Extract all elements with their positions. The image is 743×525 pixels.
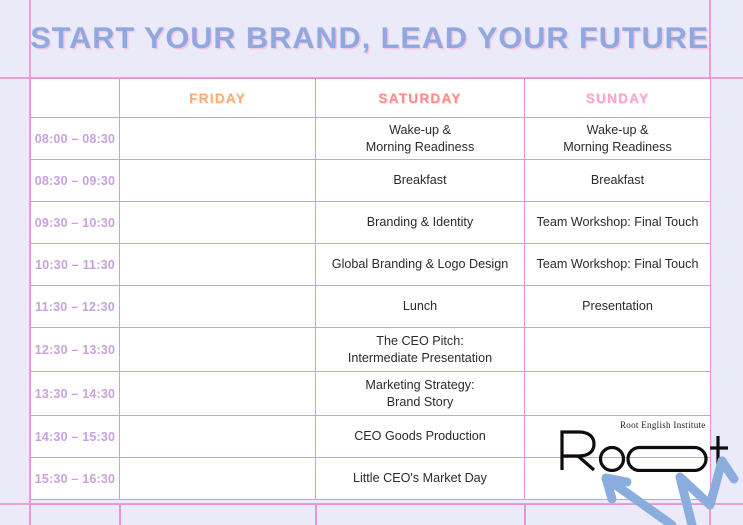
- cell-text-line1: Wake-up &: [389, 123, 451, 137]
- cell-saturday: Marketing Strategy: Brand Story: [316, 372, 525, 416]
- table-row: 10:30 – 11:30 Global Branding & Logo Des…: [31, 244, 711, 286]
- time-slot-label: 08:00 – 08:30: [31, 118, 120, 160]
- cell-saturday: Branding & Identity: [316, 202, 525, 244]
- grid-divider: [119, 505, 121, 525]
- column-header-friday: FRIDAY: [120, 79, 316, 118]
- cell-text-line2: Morning Readiness: [316, 139, 524, 156]
- time-slot-label: 13:30 – 14:30: [31, 372, 120, 416]
- table-header-row: FRIDAY SATURDAY SUNDAY: [31, 79, 711, 118]
- table-row: 13:30 – 14:30 Marketing Strategy: Brand …: [31, 372, 711, 416]
- cell-friday: [120, 286, 316, 328]
- cell-saturday: Global Branding & Logo Design: [316, 244, 525, 286]
- cell-text-line1: The CEO Pitch:: [376, 334, 464, 348]
- grid-divider: [315, 505, 317, 525]
- cell-sunday: Wake-up & Morning Readiness: [525, 118, 711, 160]
- time-slot-label: 15:30 – 16:30: [31, 458, 120, 500]
- table-row: 08:30 – 09:30 Breakfast Breakfast: [31, 160, 711, 202]
- schedule-table: FRIDAY SATURDAY SUNDAY 08:00 – 08:30 Wak…: [30, 78, 711, 500]
- cell-friday: [120, 328, 316, 372]
- cell-friday: [120, 244, 316, 286]
- cell-friday: [120, 372, 316, 416]
- schedule-poster: START YOUR BRAND, LEAD YOUR FUTURE FRIDA…: [0, 0, 743, 525]
- table-row: 12:30 – 13:30 The CEO Pitch: Intermediat…: [31, 328, 711, 372]
- time-slot-label: 14:30 – 15:30: [31, 416, 120, 458]
- time-slot-label: 08:30 – 09:30: [31, 160, 120, 202]
- cell-friday: [120, 202, 316, 244]
- cell-friday: [120, 458, 316, 500]
- table-row: 14:30 – 15:30 CEO Goods Production: [31, 416, 711, 458]
- time-slot-label: 12:30 – 13:30: [31, 328, 120, 372]
- cell-text-line2: Intermediate Presentation: [316, 350, 524, 367]
- cell-friday: [120, 118, 316, 160]
- cell-friday: [120, 416, 316, 458]
- cell-sunday: Presentation: [525, 286, 711, 328]
- cell-saturday: Wake-up & Morning Readiness: [316, 118, 525, 160]
- cell-text-line1: Wake-up &: [587, 123, 649, 137]
- table-row: 08:00 – 08:30 Wake-up & Morning Readines…: [31, 118, 711, 160]
- cell-sunday: Team Workshop: Final Touch: [525, 244, 711, 286]
- column-header-saturday: SATURDAY: [316, 79, 525, 118]
- arrow-shaft-left: [610, 481, 672, 525]
- cell-saturday: Breakfast: [316, 160, 525, 202]
- arrow-tail-right: [722, 461, 734, 479]
- cell-sunday: Team Workshop: Final Touch: [525, 202, 711, 244]
- grid-divider: [524, 505, 526, 525]
- column-header-sunday: SUNDAY: [525, 79, 711, 118]
- cell-sunday: Breakfast: [525, 160, 711, 202]
- cell-text-line2: Brand Story: [316, 394, 524, 411]
- column-header-time: [31, 79, 120, 118]
- cell-text-line2: Morning Readiness: [525, 139, 710, 156]
- cell-saturday: Little CEO's Market Day: [316, 458, 525, 500]
- cell-friday: [120, 160, 316, 202]
- table-row: 11:30 – 12:30 Lunch Presentation: [31, 286, 711, 328]
- cell-sunday: [525, 328, 711, 372]
- decorative-arrows: [580, 455, 743, 525]
- cell-saturday: Lunch: [316, 286, 525, 328]
- cell-sunday: [525, 372, 711, 416]
- table-row: 09:30 – 10:30 Branding & Identity Team W…: [31, 202, 711, 244]
- time-slot-label: 10:30 – 11:30: [31, 244, 120, 286]
- arrow-zigzag-right: [680, 461, 722, 525]
- cell-text-line1: Marketing Strategy:: [365, 378, 474, 392]
- page-title: START YOUR BRAND, LEAD YOUR FUTURE: [30, 22, 709, 56]
- cell-saturday: CEO Goods Production: [316, 416, 525, 458]
- poster-title-band: START YOUR BRAND, LEAD YOUR FUTURE: [30, 0, 710, 78]
- cell-sunday: [525, 416, 711, 458]
- time-slot-label: 11:30 – 12:30: [31, 286, 120, 328]
- time-slot-label: 09:30 – 10:30: [31, 202, 120, 244]
- cell-saturday: The CEO Pitch: Intermediate Presentation: [316, 328, 525, 372]
